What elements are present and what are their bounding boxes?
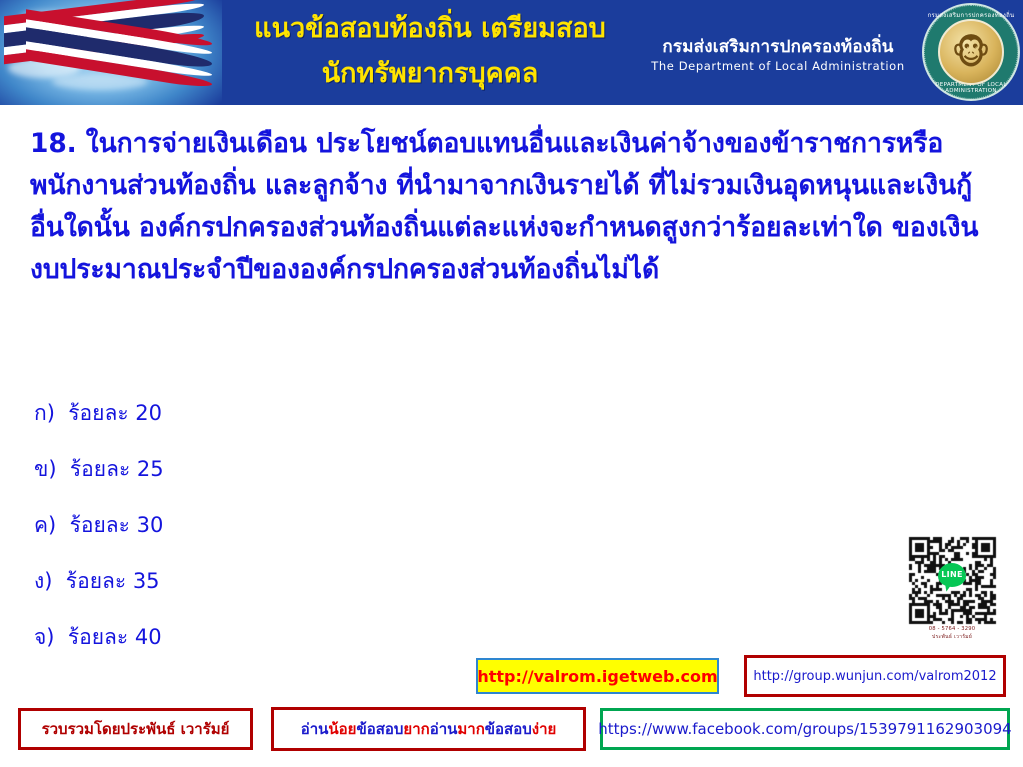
qr-phone-number: 08 - 5764 - 3290 [898, 625, 1006, 633]
link-box-facebook[interactable]: https://www.facebook.com/groups/15397911… [600, 708, 1010, 750]
header-banner: แนวข้อสอบท้องถิ่น เตรียมสอบ นักทรัพยากรบ… [0, 0, 1023, 105]
motto-segment-1: น้อย [328, 717, 356, 741]
qr-code-image: LINE [904, 535, 1000, 625]
answer-choices-list: ก) ร้อยละ 20 ข) ร้อยละ 25 ค) ร้อยละ 30 ง… [34, 385, 454, 665]
thai-flag-icon-secondary [26, 24, 216, 80]
line-qr-code-block: LINE 08 - 5764 - 3290 ประพันธ์ เวารัมย์ [898, 535, 1006, 651]
slide-canvas: แนวข้อสอบท้องถิ่น เตรียมสอบ นักทรัพยากรบ… [0, 0, 1023, 767]
motto-segment-6: มาก [457, 717, 484, 741]
banner-title-line1: แนวข้อสอบท้องถิ่น เตรียมสอบ [254, 13, 606, 44]
motto-box: อ่านน้อยข้อสอบยาก อ่านมากข้อสอบง่าย [271, 707, 586, 751]
line-logo-icon: LINE [938, 563, 966, 587]
choice-item-e[interactable]: จ) ร้อยละ 40 [34, 609, 454, 665]
motto-segment-7: ข้อสอบ [485, 717, 532, 741]
lion-icon: 🐵 [951, 36, 990, 70]
banner-title-line2: นักทรัพยากรบุคคล [210, 51, 650, 96]
choice-item-a[interactable]: ก) ร้อยละ 20 [34, 385, 454, 441]
link-box-wunjun[interactable]: http://group.wunjun.com/valrom2012 [744, 655, 1006, 697]
department-name-english: The Department of Local Administration [648, 58, 908, 74]
link-box-igetweb[interactable]: http://valrom.igetweb.com [476, 658, 719, 694]
dla-seal-logo: กรมส่งเสริมการปกครองท้องถิ่น DEPARTMENT … [922, 3, 1020, 101]
motto-segment-0: อ่าน [301, 717, 329, 741]
motto-segment-3: ยาก [403, 717, 429, 741]
motto-segment-8: ง่าย [532, 717, 557, 741]
motto-segment-2: ข้อสอบ [356, 717, 403, 741]
seal-inner-disc: 🐵 [938, 19, 1004, 85]
motto-segment-5: อ่าน [430, 717, 458, 741]
qr-owner-name: ประพันธ์ เวารัมย์ [898, 633, 1006, 641]
choice-item-b[interactable]: ข) ร้อยละ 25 [34, 441, 454, 497]
question-text: 18. ในการจ่ายเงินเดือน ประโยชน์ตอบแทนอื่… [30, 123, 996, 291]
choice-item-d[interactable]: ง) ร้อยละ 35 [34, 553, 454, 609]
banner-title: แนวข้อสอบท้องถิ่น เตรียมสอบ นักทรัพยากรบ… [210, 6, 650, 96]
department-name-thai: กรมส่งเสริมการปกครองท้องถิ่น [648, 36, 908, 58]
author-credit-box: รวบรวมโดยประพันธ์ เวารัมย์ [18, 708, 253, 750]
department-name: กรมส่งเสริมการปกครองท้องถิ่น The Departm… [648, 36, 908, 74]
choice-item-c[interactable]: ค) ร้อยละ 30 [34, 497, 454, 553]
